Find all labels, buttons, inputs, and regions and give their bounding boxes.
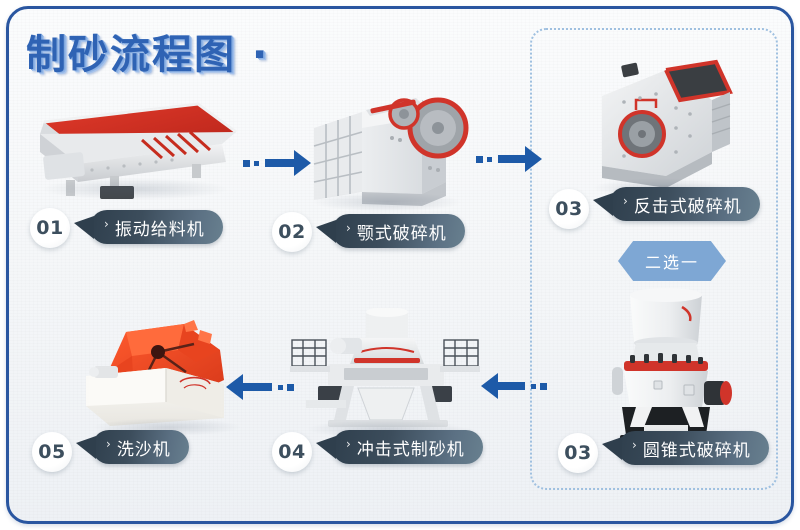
- machine-cone-crusher: [596, 285, 736, 450]
- step-badge-03-cone: 03: [558, 433, 598, 473]
- arrow-shaft: [265, 159, 295, 167]
- machine-jaw-crusher: [296, 70, 476, 210]
- arrow-dash-square: [540, 383, 547, 390]
- arrow-02-to-03: [476, 144, 542, 174]
- step-badge-05: 05: [32, 432, 72, 472]
- machine-vibrating-feeder: [22, 92, 252, 202]
- arrow-dash-dot: [487, 157, 492, 162]
- page-title: 制砂流程图 ·: [26, 22, 269, 80]
- flowchart-canvas: 制砂流程图 ·: [0, 0, 800, 530]
- step-label-03-impact[interactable]: › 反击式破碎机: [609, 187, 760, 221]
- choose-one-text: 二选一: [645, 249, 699, 273]
- machine-vsi-sand-maker: [284, 308, 484, 438]
- arrow-dash-square: [476, 156, 483, 163]
- arrow-dash-dot: [254, 161, 259, 166]
- step-number-03-cone: 03: [564, 442, 591, 464]
- step-label-02[interactable]: › 颚式破碎机: [332, 214, 465, 248]
- arrow-dash-dot: [278, 385, 283, 390]
- arrow-head-right-icon: [525, 146, 542, 172]
- arrow-shaft: [497, 382, 525, 390]
- step-label-text-03-cone: 圆锥式破碎机: [643, 436, 751, 461]
- chevron-right-icon: ›: [104, 217, 110, 231]
- choose-one-badge: 二选一: [618, 241, 726, 281]
- step-label-text-02: 颚式破碎机: [357, 219, 447, 244]
- step-number-02: 02: [278, 221, 305, 243]
- step-badge-04: 04: [272, 432, 312, 472]
- page-title-text: 制砂流程图 ·: [26, 32, 269, 78]
- arrow-03-to-04: [481, 371, 547, 401]
- step-number-05: 05: [38, 441, 65, 463]
- chevron-right-icon: ›: [346, 221, 352, 235]
- step-label-text-01: 振动给料机: [115, 215, 205, 240]
- step-label-text-04: 冲击式制砂机: [357, 435, 465, 460]
- machine-impact-crusher: [580, 48, 740, 198]
- step-badge-01: 01: [30, 208, 70, 248]
- chevron-right-icon: ›: [346, 437, 352, 451]
- step-label-01[interactable]: › 振动给料机: [90, 210, 223, 244]
- step-label-03-cone[interactable]: › 圆锥式破碎机: [618, 431, 769, 465]
- step-number-01: 01: [36, 217, 63, 239]
- arrow-dash-square: [287, 384, 294, 391]
- arrow-shaft: [498, 155, 526, 163]
- step-badge-02: 02: [272, 212, 312, 252]
- step-number-04: 04: [278, 441, 305, 463]
- step-badge-03-impact: 03: [549, 189, 589, 229]
- machine-sand-washer: [74, 310, 264, 435]
- step-label-04[interactable]: › 冲击式制砂机: [332, 430, 483, 464]
- arrow-dash-dot: [531, 384, 536, 389]
- step-label-text-05: 洗沙机: [117, 435, 171, 460]
- arrow-dash-square: [243, 160, 250, 167]
- step-label-text-03-impact: 反击式破碎机: [634, 192, 742, 217]
- chevron-right-icon: ›: [632, 438, 638, 452]
- step-label-05[interactable]: › 洗沙机: [92, 430, 189, 464]
- chevron-right-icon: ›: [106, 437, 112, 451]
- step-number-03-impact: 03: [555, 198, 582, 220]
- chevron-right-icon: ›: [623, 194, 629, 208]
